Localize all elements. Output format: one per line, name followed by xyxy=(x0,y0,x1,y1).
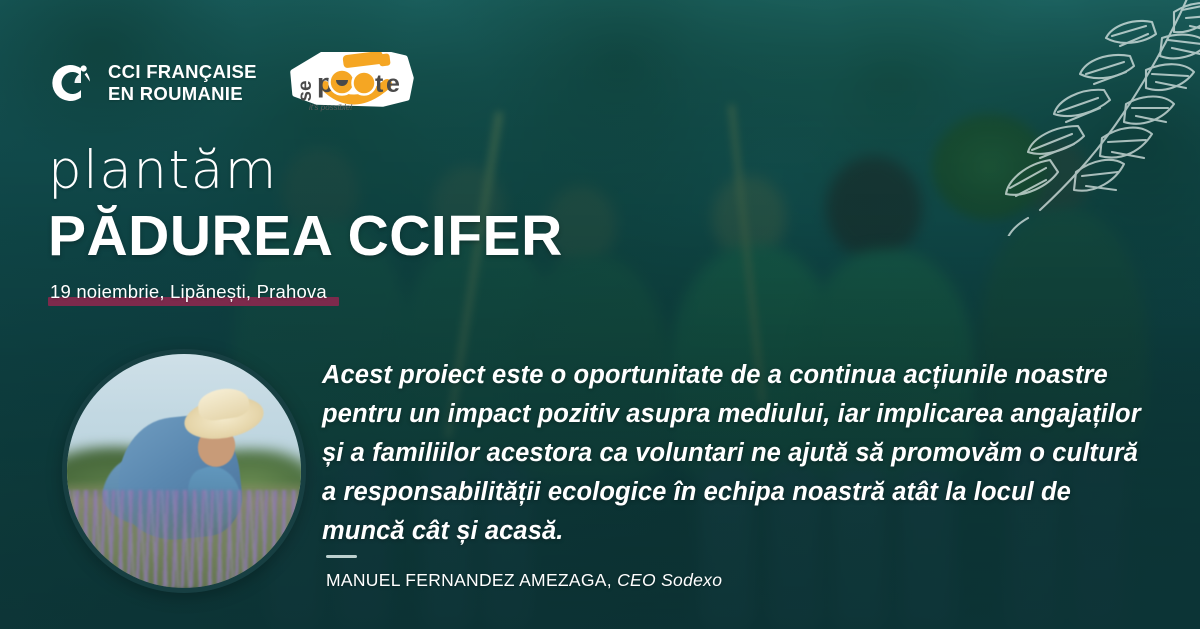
author-name: MANUEL FERNANDEZ AMEZAGA, xyxy=(326,570,612,590)
svg-text:t: t xyxy=(375,70,384,98)
cci-logo-text: CCI FRANÇAISE EN ROUMANIE xyxy=(108,61,257,105)
quote-line: și a familiilor acestora ca voluntari ne… xyxy=(322,434,1167,473)
author-role: CEO Sodexo xyxy=(617,570,722,590)
quote-line: Acest proiect este o oportunitate de a c… xyxy=(322,356,1167,395)
quote-attribution: MANUEL FERNANDEZ AMEZAGA, CEO Sodexo xyxy=(326,570,722,591)
quote-line: pentru un impact pozitiv asupra mediului… xyxy=(322,395,1167,434)
portrait-photo xyxy=(67,354,301,588)
svg-text:e: e xyxy=(386,70,400,98)
se-poate-logo: se p t e it's possible! xyxy=(287,52,417,114)
page-title: PĂDUREA CCIFER xyxy=(48,207,668,265)
hero-kicker: plantăm xyxy=(48,144,668,197)
se-poate-logo-icon: se p t e it's possible! xyxy=(287,52,417,114)
svg-text:se: se xyxy=(295,80,316,101)
cci-logo-line1: CCI FRANÇAISE xyxy=(108,61,257,83)
avatar xyxy=(62,349,306,593)
quote-text: Acest proiect este o oportunitate de a c… xyxy=(322,356,1167,551)
quote-divider xyxy=(326,555,357,558)
cci-circular-mark-icon xyxy=(50,61,94,105)
hero-text-block: plantăm PĂDUREA CCIFER 19 noiembrie, Lip… xyxy=(48,144,668,306)
cci-logo: CCI FRANÇAISE EN ROUMANIE xyxy=(50,61,257,105)
event-date-badge: 19 noiembrie, Lipănești, Prahova xyxy=(48,281,331,306)
logo-row: CCI FRANÇAISE EN ROUMANIE xyxy=(50,52,417,114)
quote-line: muncă cât și acasă. xyxy=(322,512,1167,551)
quote-line: a responsabilității ecologice în echipa … xyxy=(322,473,1167,512)
event-date-location: 19 noiembrie, Lipănești, Prahova xyxy=(48,281,331,306)
event-promo-banner: CCI FRANÇAISE EN ROUMANIE xyxy=(0,0,1200,629)
cci-logo-line2: EN ROUMANIE xyxy=(108,83,257,105)
se-poate-tagline: it's possible! xyxy=(309,103,353,112)
